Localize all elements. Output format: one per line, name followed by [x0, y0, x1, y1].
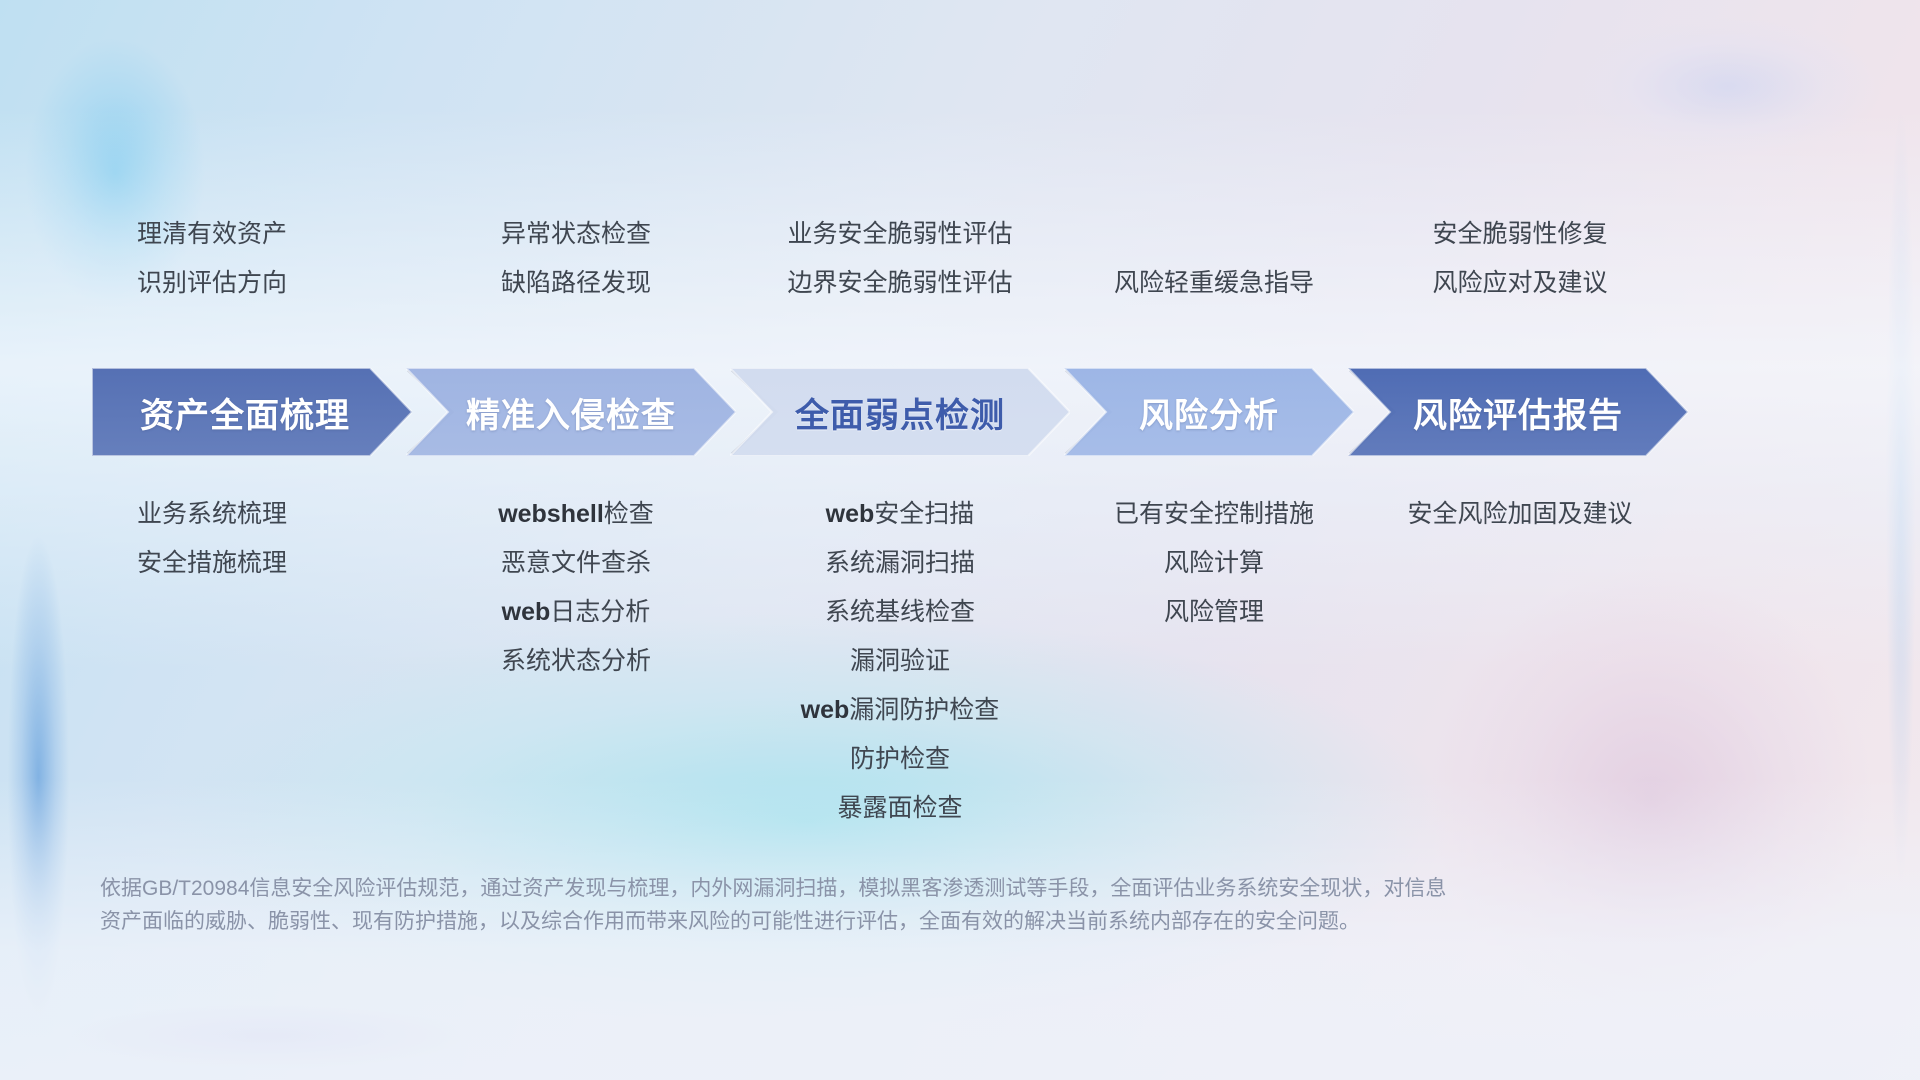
footer-description: 依据GB/T20984信息安全风险评估规范，通过资产发现与梳理，内外网漏洞扫描，…: [100, 872, 1840, 938]
latin-term: web: [826, 500, 875, 528]
process-stage-risk-analysis[interactable]: 风险分析: [1064, 368, 1354, 456]
slide-canvas: 理清有效资产识别评估方向异常状态检查缺陷路径发现业务安全脆弱性评估边界安全脆弱性…: [0, 0, 1920, 1080]
stage-label: 风险评估报告: [1413, 388, 1623, 437]
diagram-content: 理清有效资产识别评估方向异常状态检查缺陷路径发现业务安全脆弱性评估边界安全脆弱性…: [0, 0, 1920, 1080]
output-item: 业务安全脆弱性评估: [640, 210, 1160, 259]
term-suffix: 日志分析: [550, 598, 650, 626]
activity-item: web漏洞防护检查: [640, 686, 1160, 735]
stage-label: 精准入侵检查: [466, 388, 676, 437]
stage-label: 全面弱点检测: [795, 388, 1005, 437]
stage-activities-report: 安全风险加固及建议: [1260, 490, 1780, 539]
activity-item: 安全风险加固及建议: [1260, 490, 1780, 539]
activity-item: 防护检查: [640, 735, 1160, 784]
process-stage-report[interactable]: 风险评估报告: [1348, 368, 1688, 456]
process-stage-weakness[interactable]: 全面弱点检测: [730, 368, 1070, 456]
activity-item: 暴露面检查: [640, 784, 1160, 833]
latin-term: web: [801, 696, 850, 724]
footer-line-1: 依据GB/T20984信息安全风险评估规范，通过资产发现与梳理，内外网漏洞扫描，…: [100, 872, 1840, 905]
stage-outputs-report: 安全脆弱性修复风险应对及建议: [1260, 210, 1780, 308]
output-item: 安全脆弱性修复: [1260, 210, 1780, 259]
activity-item: 风险计算: [954, 539, 1474, 588]
process-stage-asset[interactable]: 资产全面梳理: [92, 368, 412, 456]
process-chevron-band: 资产全面梳理精准入侵检查全面弱点检测风险分析风险评估报告: [0, 368, 1920, 456]
output-item: 风险应对及建议: [1260, 259, 1780, 308]
activity-item: 风险管理: [954, 588, 1474, 637]
stage-label: 资产全面梳理: [140, 388, 350, 437]
stage-label: 风险分析: [1139, 388, 1279, 437]
process-stage-intrusion[interactable]: 精准入侵检查: [406, 368, 736, 456]
footer-line-2: 资产面临的威胁、脆弱性、现有防护措施，以及综合作用而带来风险的可能性进行评估，全…: [100, 905, 1840, 938]
activity-item: 漏洞验证: [640, 637, 1160, 686]
term-suffix: 漏洞防护检查: [849, 696, 999, 724]
latin-term: web: [502, 598, 551, 626]
latin-term: webshell: [498, 500, 604, 528]
